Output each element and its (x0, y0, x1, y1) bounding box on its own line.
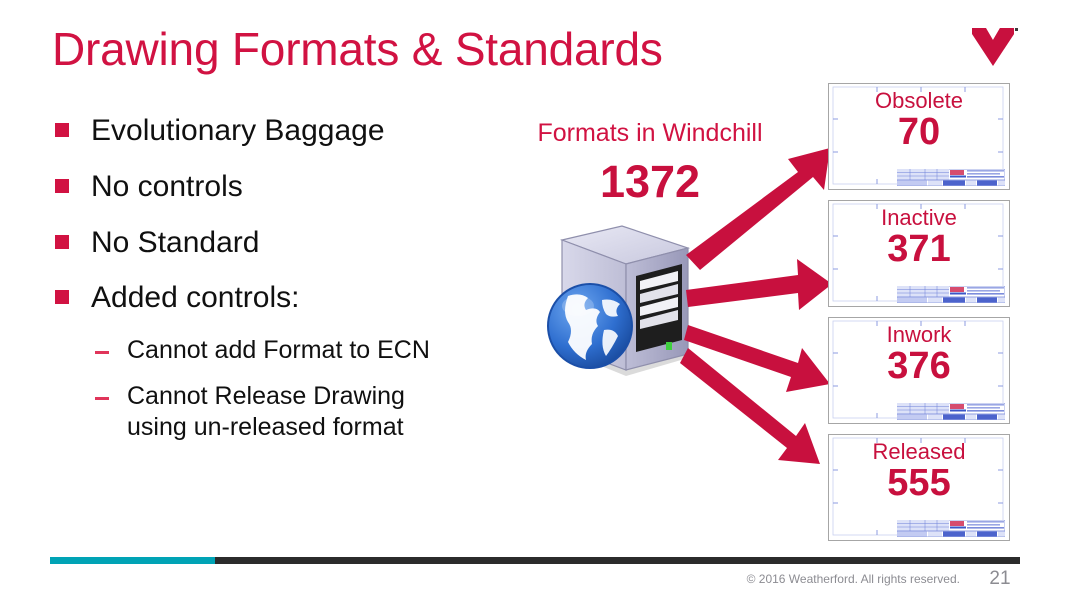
drawing-frame-inwork: Inwork 376 (828, 317, 1010, 424)
page-title: Drawing Formats & Standards (52, 22, 663, 76)
square-bullet-icon (55, 290, 69, 304)
dash-bullet-icon (95, 397, 109, 400)
bullet-label: No Standard (91, 224, 259, 262)
sub-bullet-list: Cannot add Format to ECN Cannot Release … (95, 335, 505, 444)
list-item: Added controls: (55, 279, 505, 317)
drawing-title-block-icon (897, 520, 1005, 537)
presentation-slide: Drawing Formats & Standards Evolutionary… (0, 0, 1070, 600)
arrow-up-right-icon (686, 148, 830, 270)
footer-copyright: © 2016 Weatherford. All rights reserved. (700, 572, 960, 586)
square-bullet-icon (55, 123, 69, 137)
dash-bullet-icon (95, 351, 109, 354)
box-value: 555 (829, 464, 1009, 502)
footer-accent-bar-dark (215, 557, 1020, 564)
box-value: 70 (829, 113, 1009, 151)
footer-accent-bar-teal (50, 557, 215, 564)
bullet-label: Evolutionary Baggage (91, 112, 385, 150)
list-item: No controls (55, 168, 505, 206)
drawing-frame-obsolete: Obsolete 70 (828, 83, 1010, 190)
drawing-title-block-icon (897, 169, 1005, 186)
list-item: Evolutionary Baggage (55, 112, 505, 150)
square-bullet-icon (55, 235, 69, 249)
drawing-frame-released: Released 555 (828, 434, 1010, 541)
sub-list-item: Cannot add Format to ECN (95, 335, 505, 367)
drawing-title-block-icon (897, 286, 1005, 303)
drawing-frame-inactive: Inactive 371 (828, 200, 1010, 307)
arrow-group (680, 120, 850, 480)
arrow-right-icon (686, 259, 832, 310)
bullet-label: Added controls: (91, 279, 299, 317)
box-value: 371 (829, 230, 1009, 268)
sub-list-item: Cannot Release Drawing using un-released… (95, 381, 505, 444)
sub-bullet-label: Cannot add Format to ECN (127, 335, 430, 367)
box-value: 376 (829, 347, 1009, 385)
bullet-label: No controls (91, 168, 243, 206)
weatherford-chevron-logo-icon (962, 24, 1034, 70)
sub-bullet-label: Cannot Release Drawing using un-released… (127, 381, 457, 444)
list-item: No Standard (55, 224, 505, 262)
bullet-list: Evolutionary Baggage No controls No Stan… (55, 112, 505, 458)
drawing-title-block-icon (897, 403, 1005, 420)
slide-page-number: 21 (980, 568, 1020, 590)
square-bullet-icon (55, 179, 69, 193)
